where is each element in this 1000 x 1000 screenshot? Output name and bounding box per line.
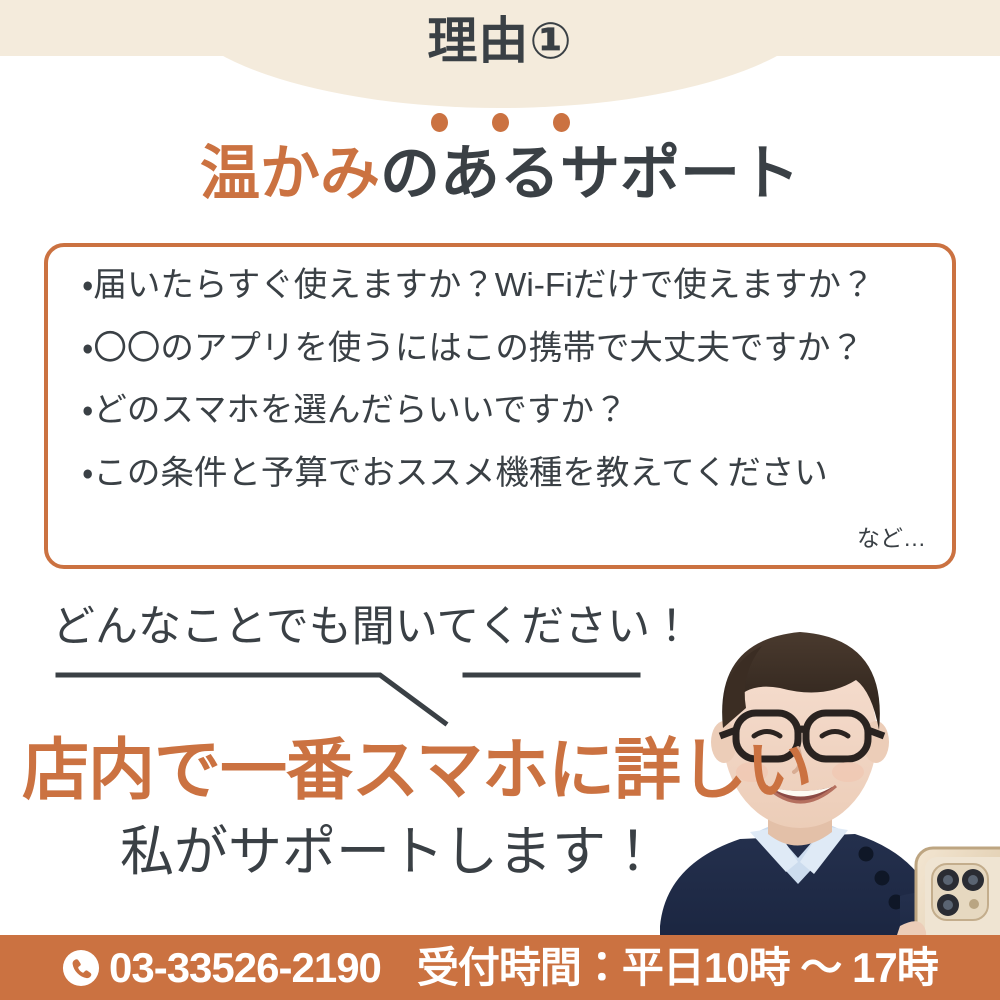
question-footnote: など… bbox=[857, 519, 926, 553]
list-item: ・届いたらすぐ使えますか？Wi-Fiだけで使えますか？ bbox=[82, 269, 934, 303]
emphasis-dots bbox=[0, 113, 1000, 132]
question-list: ・届いたらすぐ使えますか？Wi-Fiだけで使えますか？ ・〇〇のアプリを使うには… bbox=[82, 269, 934, 490]
phone-icon bbox=[62, 949, 100, 987]
emphasis-dot bbox=[553, 113, 570, 132]
emphasis-dot bbox=[431, 113, 448, 132]
speech-notch-rule bbox=[40, 665, 680, 727]
main-title-rest: のあるサポート bbox=[380, 140, 800, 207]
emphasis-dot bbox=[492, 113, 509, 132]
big-headline: 店内で一番スマホに詳しい bbox=[22, 737, 812, 804]
footer-business-hours: 受付時間：平日10時 〜 17時 bbox=[417, 947, 938, 989]
main-title: 温かみのあるサポート bbox=[0, 142, 1000, 207]
reason-badge-label: 理由① bbox=[0, 16, 1000, 66]
list-item: ・この条件と予算でおススメ機種を教えてください bbox=[82, 457, 934, 491]
list-item: ・どのスマホを選んだらいいですか？ bbox=[82, 394, 934, 428]
promo-poster: 理由① 温かみのあるサポート ・届いたらすぐ使えますか？Wi-Fiだけで使えます… bbox=[0, 0, 1000, 1000]
sub-headline: 私がサポートします！ bbox=[120, 825, 660, 879]
list-item: ・〇〇のアプリを使うにはこの携帯で大丈夫ですか？ bbox=[82, 332, 934, 366]
main-title-highlight: 温かみ bbox=[200, 140, 380, 207]
contact-footer: 03-33526-2190 受付時間：平日10時 〜 17時 bbox=[0, 935, 1000, 1000]
ask-anything-text: どんなことでも聞いてください！ bbox=[52, 606, 693, 649]
question-box: ・届いたらすぐ使えますか？Wi-Fiだけで使えますか？ ・〇〇のアプリを使うには… bbox=[44, 243, 956, 569]
footer-phone-number[interactable]: 03-33526-2190 bbox=[109, 947, 381, 989]
